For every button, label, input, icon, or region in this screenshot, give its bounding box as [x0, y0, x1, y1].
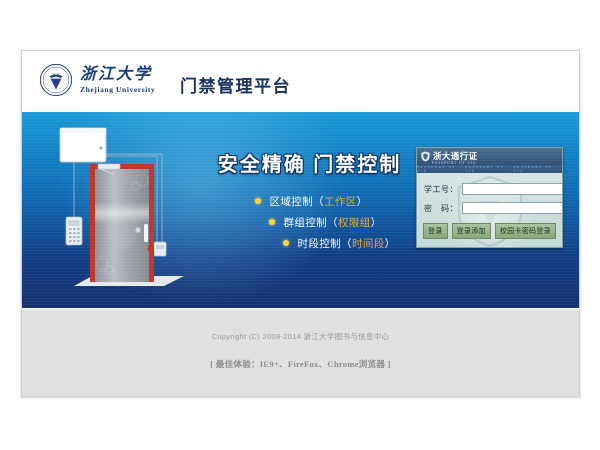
hero-headline: 安全精确 门禁控制 — [197, 148, 422, 177]
copyright-text: Copyright (C) 2008-2014 浙江大学图书与信息中心 — [22, 310, 579, 342]
feature-list: 区域控制（工作区） 群组控制（权限组） 时段控制（时间段） — [197, 194, 422, 251]
bullet-dot-icon — [255, 198, 261, 204]
main-card: 浙江大学 Zhejiang University 门禁管理平台 — [21, 50, 580, 397]
page-title: 门禁管理平台 — [180, 72, 291, 97]
field-row-userid: 学工号： — [424, 183, 555, 195]
login-form: 学工号： 密 码： 登录 登录添加 校园卡密码登录 — [417, 173, 562, 247]
userid-label: 学工号： — [424, 184, 458, 195]
login-panel-title: 浙大通行证 — [433, 152, 478, 161]
shield-icon — [421, 151, 430, 162]
university-names: 浙江大学 Zhejiang University — [80, 67, 155, 94]
list-item: 群组控制（权限组） — [197, 215, 422, 230]
strip-text: PASSPORT OF ZJU — [465, 165, 513, 173]
feature-text: 群组控制（ — [283, 217, 338, 229]
login-add-button[interactable]: 登录添加 — [452, 223, 491, 239]
login-panel-strip: PASSPORT OF ZJU PASSPORT OF ZJU PASSPORT… — [417, 165, 562, 173]
bullet-dot-icon — [283, 240, 289, 246]
login-panel-header: 浙大通行证 PASSPORT OF ZJU — [417, 148, 562, 165]
strip-text: PASSPORT OF ZJU — [514, 165, 562, 173]
hero-text-block: 安全精确 门禁控制 区域控制（工作区） 群组控制（权限组） 时段控制（时间段） — [197, 148, 422, 262]
userid-input[interactable] — [462, 183, 563, 195]
feature-text: 时段控制（ — [297, 238, 352, 250]
field-row-password: 密 码： — [424, 202, 555, 214]
site-header: 浙江大学 Zhejiang University 门禁管理平台 — [22, 51, 579, 112]
door-access-control-illustration — [44, 124, 214, 304]
zju-seal-icon — [39, 63, 73, 97]
feature-tail: ） — [357, 196, 368, 208]
university-logo[interactable]: 浙江大学 Zhejiang University — [39, 63, 155, 97]
login-button[interactable]: 登录 — [423, 223, 448, 239]
password-label: 密 码： — [424, 203, 458, 214]
feature-highlight: 时间段 — [352, 238, 385, 250]
password-input[interactable] — [462, 202, 563, 214]
university-name-en: Zhejiang University — [80, 86, 155, 94]
list-item: 时段控制（时间段） — [197, 236, 422, 251]
login-button-row: 登录 登录添加 校园卡密码登录 — [424, 223, 555, 239]
site-footer: Copyright (C) 2008-2014 浙江大学图书与信息中心 [ 最佳… — [22, 308, 579, 397]
feature-highlight: 工作区 — [324, 196, 357, 208]
feature-text: 区域控制（ — [269, 196, 324, 208]
page-root: 浙江大学 Zhejiang University 门禁管理平台 — [0, 0, 600, 450]
feature-tail: ） — [385, 238, 396, 250]
browser-support-text: [ 最佳体验：IE9+、FireFox、Chrome浏览器 ] — [22, 342, 579, 370]
bullet-dot-icon — [269, 219, 275, 225]
hero-banner: 安全精确 门禁控制 区域控制（工作区） 群组控制（权限组） 时段控制（时间段） — [22, 112, 579, 308]
login-panel-subtitle: PASSPORT OF ZJU — [432, 161, 477, 165]
feature-highlight: 权限组 — [338, 217, 371, 229]
strip-text: PASSPORT OF ZJU — [417, 165, 465, 173]
feature-tail: ） — [371, 217, 382, 229]
list-item: 区域控制（工作区） — [197, 194, 422, 209]
campus-card-login-button[interactable]: 校园卡密码登录 — [495, 223, 556, 239]
login-panel: 浙大通行证 PASSPORT OF ZJU PASSPORT OF ZJU PA… — [416, 147, 563, 248]
university-name-cn: 浙江大学 — [80, 67, 155, 83]
